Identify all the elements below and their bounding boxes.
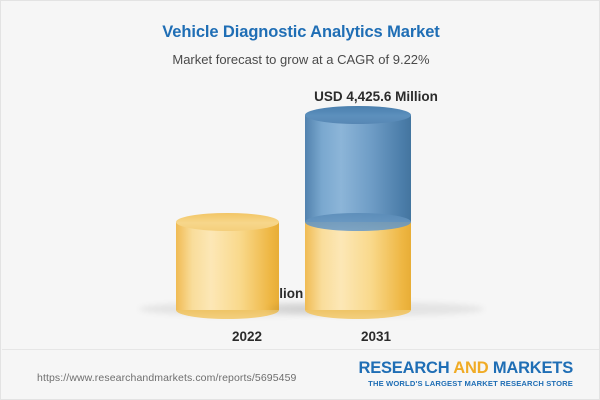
category-label-2031: 2031 (246, 329, 506, 344)
value-label-2031: USD 4,425.6 Million (246, 89, 506, 104)
logo-word-research: RESEARCH (358, 359, 449, 377)
cylinder-2031 (305, 115, 411, 310)
chart-card: Vehicle Diagnostic Analytics Market Mark… (0, 0, 600, 400)
logo-wordmark: RESEARCH AND MARKETS (358, 360, 573, 377)
logo-word-and: AND (453, 359, 488, 377)
cylinder-growth-segment-2031 (305, 115, 411, 222)
cylinder-top-ellipse-2022 (176, 213, 279, 231)
source-url[interactable]: https://www.researchandmarkets.com/repor… (37, 372, 296, 384)
plot-area: USD 2,001 Million 2022 USD 4,425.6 Milli… (1, 76, 600, 346)
research-and-markets-logo[interactable]: RESEARCH AND MARKETS THE WORLD'S LARGEST… (358, 360, 573, 388)
footer: https://www.researchandmarkets.com/repor… (1, 350, 600, 400)
cylinder-base-segment-2031 (305, 222, 411, 310)
logo-word-markets: MARKETS (493, 359, 573, 377)
cylinder-2022 (176, 222, 279, 310)
logo-tagline: THE WORLD'S LARGEST MARKET RESEARCH STOR… (358, 379, 573, 388)
cylinder-body-2022 (176, 222, 279, 310)
cylinder-top-ellipse-2031 (305, 106, 411, 124)
cylinder-segment-divider-2031 (305, 213, 411, 231)
chart-title: Vehicle Diagnostic Analytics Market (1, 23, 600, 42)
chart-subtitle: Market forecast to grow at a CAGR of 9.2… (1, 52, 600, 67)
